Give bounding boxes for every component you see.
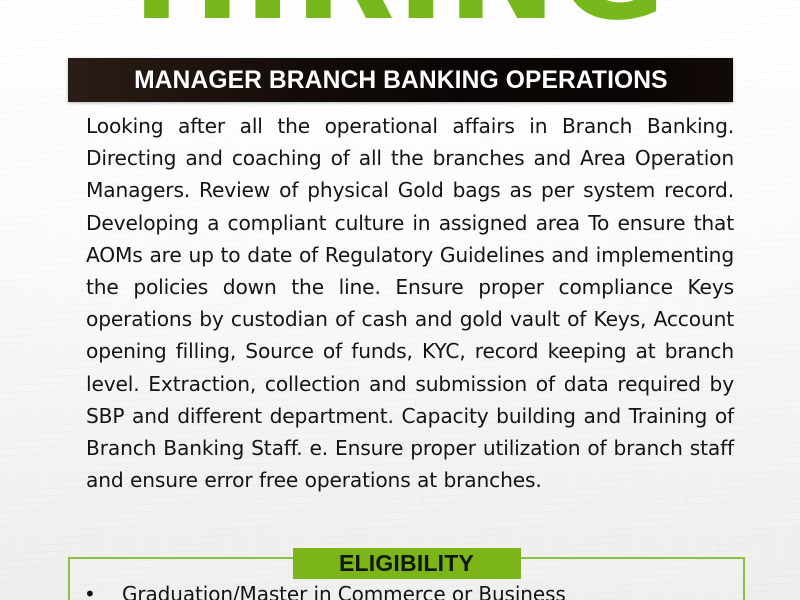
job-description: Looking after all the operational affair…	[86, 110, 734, 496]
eligibility-item-text: Graduation/Master in Commerce or Busines…	[122, 579, 745, 600]
headline-hiring-text: HIRING	[0, 0, 800, 46]
headline-hiring: HIRING	[0, 0, 800, 46]
eligibility-heading-text: ELIGIBILITY	[339, 552, 474, 575]
job-poster: HIRING MANAGER BRANCH BANKING OPERATIONS…	[0, 0, 800, 600]
eligibility-section: ELIGIBILITY • Graduation/Master in Comme…	[68, 548, 745, 600]
eligibility-list: • Graduation/Master in Commerce or Busin…	[68, 579, 745, 600]
eligibility-header: ELIGIBILITY	[293, 548, 521, 579]
job-title-text: MANAGER BRANCH BANKING OPERATIONS	[134, 68, 668, 93]
job-title-banner: MANAGER BRANCH BANKING OPERATIONS	[68, 58, 733, 102]
list-item: • Graduation/Master in Commerce or Busin…	[68, 579, 745, 600]
bullet-icon: •	[84, 579, 122, 600]
